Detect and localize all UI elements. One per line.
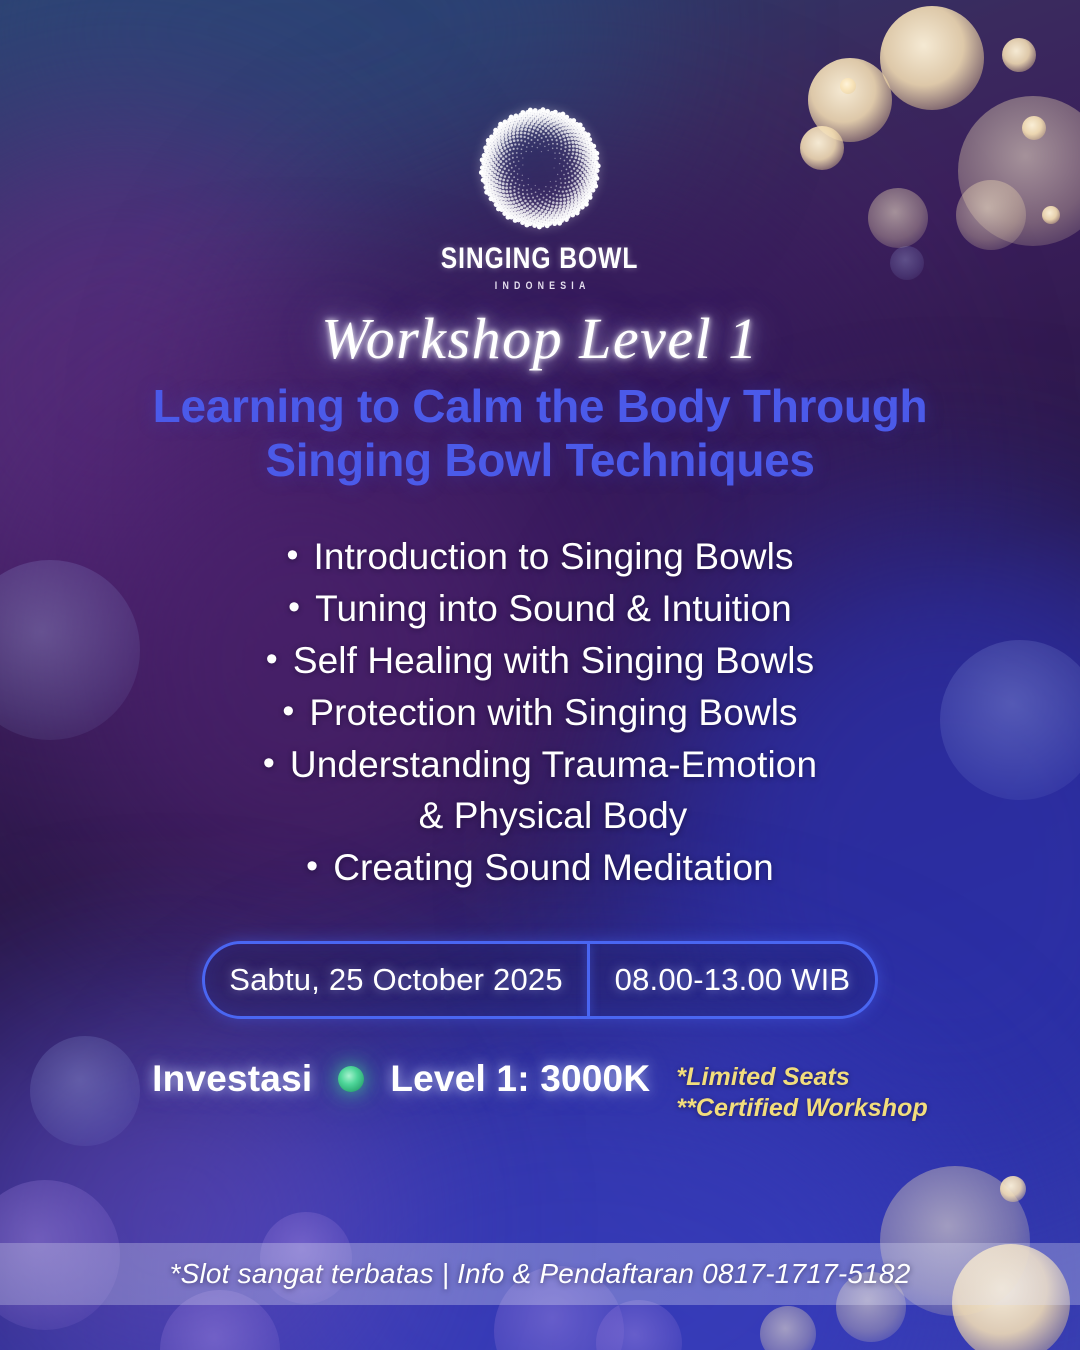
poster-canvas: SINGING BOWL INDONESIA Workshop Level 1 … xyxy=(0,0,1080,1350)
investment-value: Level 1: 3000K xyxy=(390,1060,650,1097)
investment-label: Investasi xyxy=(152,1060,312,1097)
list-item: Understanding Trauma-Emotion xyxy=(0,738,1080,790)
schedule-time: 08.00-13.00 WIB xyxy=(590,944,875,1016)
page-title: Learning to Calm the Body Through Singin… xyxy=(56,379,1024,488)
brand-name: SINGING BOWL xyxy=(441,244,639,274)
brand-logo: SINGING BOWL INDONESIA xyxy=(0,104,1080,292)
page-title-line-1: Learning to Calm the Body Through xyxy=(153,380,928,432)
footer-band: *Slot sangat terbatas | Info & Pendaftar… xyxy=(0,1243,1080,1305)
list-item: Self Healing with Singing Bowls xyxy=(0,634,1080,686)
page-title-line-2: Singing Bowl Techniques xyxy=(56,433,1024,487)
investment-note-2: **Certified Workshop xyxy=(676,1093,928,1124)
script-title: Workshop Level 1 xyxy=(0,309,1080,370)
investment-main: Investasi Level 1: 3000K xyxy=(152,1060,650,1097)
brand-subtitle: INDONESIA xyxy=(490,281,591,292)
list-item: Tuning into Sound & Intuition xyxy=(0,582,1080,634)
green-status-dot-icon xyxy=(338,1066,364,1092)
schedule-pill: Sabtu, 25 October 2025 08.00-13.00 WIB xyxy=(202,941,878,1019)
investment-row: Investasi Level 1: 3000K *Limited Seats … xyxy=(0,1060,1080,1124)
footer-contact-text: *Slot sangat terbatas | Info & Pendaftar… xyxy=(170,1258,911,1290)
list-item: Creating Sound Meditation xyxy=(0,841,1080,893)
investment-note-1: *Limited Seats xyxy=(676,1062,928,1093)
topic-list: Introduction to Singing Bowls Tuning int… xyxy=(0,530,1080,893)
list-item: Introduction to Singing Bowls xyxy=(0,530,1080,582)
mandala-dots-icon xyxy=(476,104,604,232)
list-item: Protection with Singing Bowls xyxy=(0,686,1080,738)
investment-notes: *Limited Seats **Certified Workshop xyxy=(676,1062,928,1124)
schedule-date: Sabtu, 25 October 2025 xyxy=(205,944,587,1016)
list-item-continuation: & Physical Body xyxy=(0,790,1080,841)
